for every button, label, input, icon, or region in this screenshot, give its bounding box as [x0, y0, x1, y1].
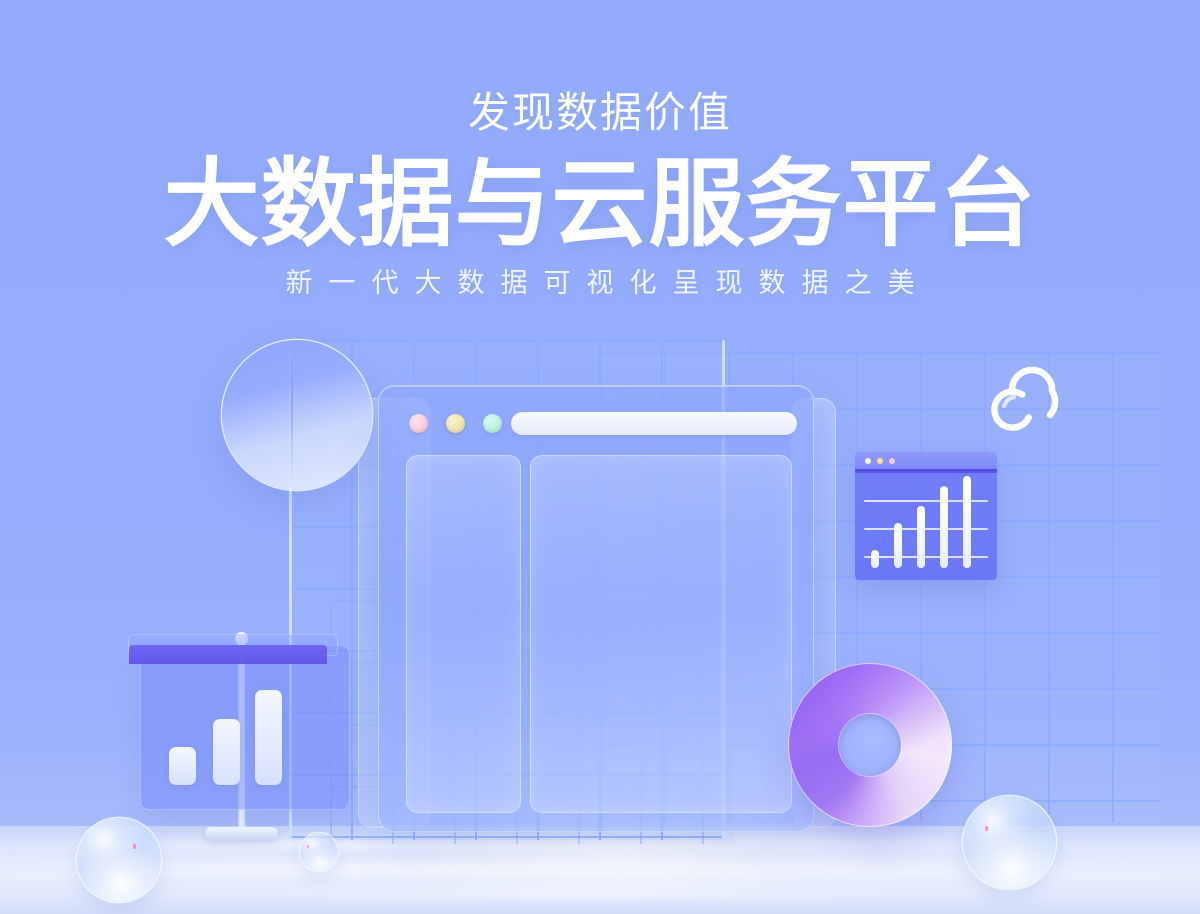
stand-base — [205, 827, 278, 840]
floor-reflection-streak — [0, 886, 1200, 900]
gradient-torus-rim — [788, 663, 952, 827]
traffic-light-pink-icon[interactable] — [409, 414, 428, 433]
mini-dot-pink-icon[interactable] — [889, 458, 895, 464]
orb-spark — [985, 826, 988, 831]
orb-spark — [307, 845, 309, 848]
bar-chart-bar — [169, 747, 196, 785]
hero-text-block: 发现数据价值 大数据与云服务平台 新一代大数据可视化呈现数据之美 — [0, 0, 1200, 297]
content-pane[interactable] — [530, 455, 792, 813]
mini-window-titlebar — [855, 452, 997, 469]
bar-chart-card[interactable] — [140, 645, 350, 810]
browser-titlebar — [379, 386, 813, 454]
traffic-light-yellow-icon[interactable] — [446, 414, 465, 433]
hero-subline: 新一代大数据可视化呈现数据之美 — [0, 270, 1200, 297]
mini-chart-bar — [963, 476, 971, 568]
mini-chart-bar — [917, 506, 925, 568]
hero-eyebrow: 发现数据价值 — [0, 92, 1200, 134]
bar-chart-card-header — [128, 634, 338, 656]
mini-chart-window[interactable] — [855, 452, 997, 580]
mini-dot-white-icon[interactable] — [865, 458, 871, 464]
glass-orb-small — [300, 833, 338, 871]
mini-window-edge — [855, 469, 997, 473]
sidebar-pane[interactable] — [406, 455, 521, 813]
cloud-icon — [978, 362, 1066, 436]
bar-chart-card-header-accent — [129, 645, 327, 664]
glass-orb-right — [963, 796, 1056, 889]
bar-chart-bar — [213, 719, 240, 785]
mini-chart-bar — [940, 486, 948, 568]
mini-dot-yellow-icon[interactable] — [877, 458, 883, 464]
glass-disc — [222, 340, 372, 490]
glass-orb-left — [77, 818, 161, 902]
bar-chart-bar — [255, 690, 282, 785]
hero-banner: 发现数据价值 大数据与云服务平台 新一代大数据可视化呈现数据之美 — [0, 0, 1200, 914]
mini-chart-bar — [894, 523, 902, 568]
orb-spark — [133, 844, 136, 849]
mini-chart-bar — [871, 550, 879, 568]
address-bar-input[interactable] — [511, 412, 797, 435]
page-title: 大数据与云服务平台 — [0, 156, 1200, 254]
traffic-light-mint-icon[interactable] — [483, 414, 502, 433]
